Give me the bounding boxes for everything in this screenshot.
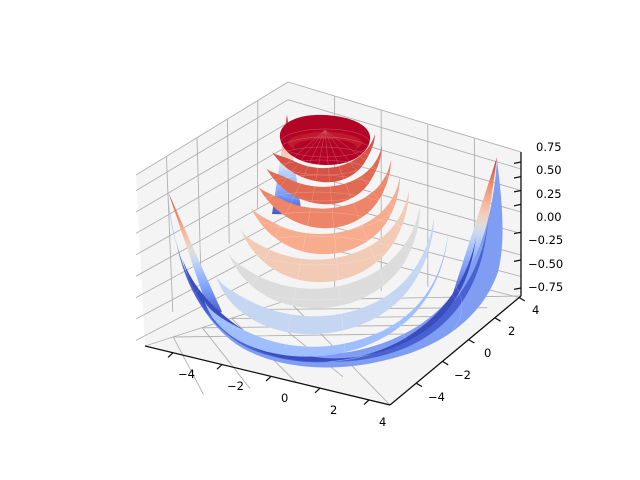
y-tick-label: 4: [532, 303, 539, 317]
x-tick-label: 0: [281, 391, 288, 405]
z-tick-label: 0.50: [536, 163, 562, 177]
x-tick-label: −4: [178, 367, 195, 381]
z-tick-label: −0.50: [528, 257, 563, 271]
z-tick-label: 0.75: [536, 140, 562, 154]
z-tick-label: −0.75: [528, 280, 563, 294]
z-tick-label: 0.25: [536, 187, 562, 201]
y-tick-label: −4: [428, 390, 445, 404]
z-tick-label: −0.25: [528, 233, 563, 247]
x-tick-label: 4: [379, 415, 386, 429]
matplotlib-figure: −4 −2 0 2 4 −4 −2 0 2 4 −0.75 −0.50 −0.2…: [0, 0, 640, 480]
x-tick-label: 2: [330, 403, 337, 417]
x-tick-label: −2: [227, 379, 244, 393]
z-tick-label: 0.00: [536, 210, 562, 224]
y-tick-label: 0: [484, 346, 491, 360]
y-tick-label: 2: [508, 324, 515, 338]
y-tick-label: −2: [454, 368, 471, 382]
